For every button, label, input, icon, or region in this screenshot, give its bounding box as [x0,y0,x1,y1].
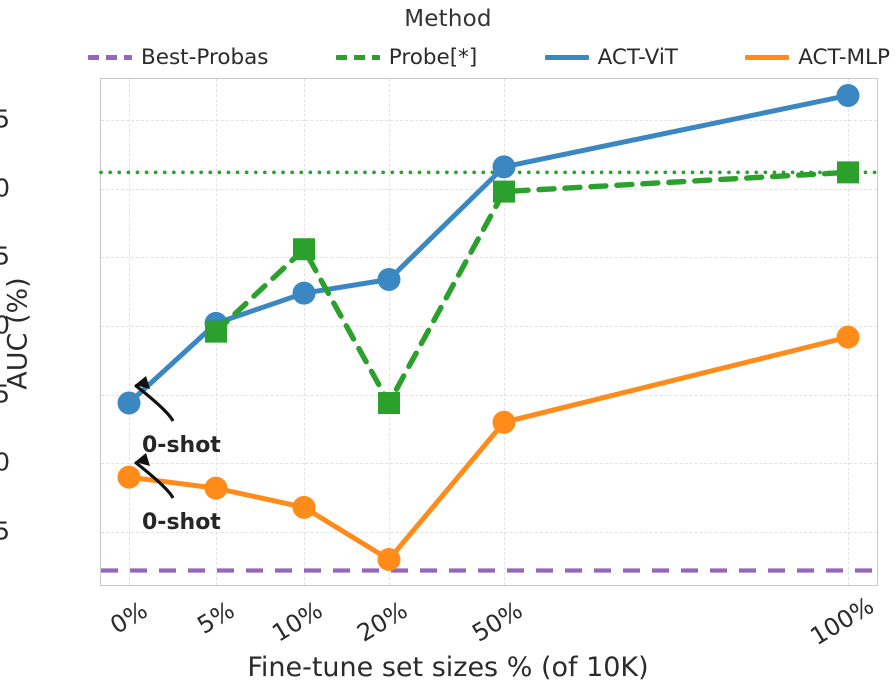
x-axis-tick-label: 50% [462,596,528,651]
series-line-act-mlp [129,337,848,559]
x-axis-tick-label: 20% [347,596,413,651]
annotation-arrow [135,385,173,421]
data-point-probe-[interactable] [837,161,859,183]
data-point-act-vit[interactable] [493,155,516,178]
legend-line-act-mlp [745,55,789,60]
data-point-act-mlp[interactable] [378,548,401,571]
legend-line-best-probas [88,55,132,60]
x-axis-tick-label: 100% [806,596,872,651]
data-point-act-mlp[interactable] [118,466,141,489]
legend-label-act-mlp: ACT-MLP [798,45,890,70]
series-line-act-vit [129,95,848,403]
data-point-act-vit[interactable] [118,392,141,415]
legend-line-probe- [336,55,380,60]
chart-figure: Method Best-Probas Probe[*] ACT-ViT ACT-… [0,0,896,698]
data-point-act-mlp[interactable] [293,496,316,519]
data-point-act-vit[interactable] [293,282,316,305]
legend-label-probe: Probe[*] [389,45,478,70]
legend-item-probe[interactable]: Probe[*] [336,45,478,70]
data-point-act-mlp[interactable] [837,326,860,349]
data-point-probe-[interactable] [205,321,227,343]
data-point-act-mlp[interactable] [205,477,228,500]
legend-item-best-probas[interactable]: Best-Probas [88,45,269,70]
x-axis-tick-label: 5% [174,596,240,651]
data-point-probe-[interactable] [493,181,515,203]
data-point-probe-[interactable] [378,392,400,414]
annotation-label-0-shot: 0-shot [142,433,221,458]
data-point-act-vit[interactable] [837,84,860,107]
legend-line-act-vit [545,55,589,60]
chart-legend: Best-Probas Probe[*] ACT-ViT ACT-MLP [88,40,896,74]
x-axis-label: Fine-tune set sizes % (of 10K) [0,652,896,683]
y-axis-label: AUC (%) [3,54,34,614]
annotation-label-0-shot: 0-shot [142,510,221,535]
x-axis-tick-label: 0% [87,596,153,651]
x-axis-tick-label: 10% [262,596,328,651]
data-point-probe-[interactable] [293,238,315,260]
data-point-act-vit[interactable] [378,268,401,291]
data-point-act-mlp[interactable] [493,411,516,434]
legend-title: Method [0,6,896,32]
legend-item-act-vit[interactable]: ACT-ViT [545,45,678,70]
legend-item-act-mlp[interactable]: ACT-MLP [745,45,890,70]
legend-label-act-vit: ACT-ViT [598,45,678,70]
legend-label-best-probas: Best-Probas [141,45,269,70]
